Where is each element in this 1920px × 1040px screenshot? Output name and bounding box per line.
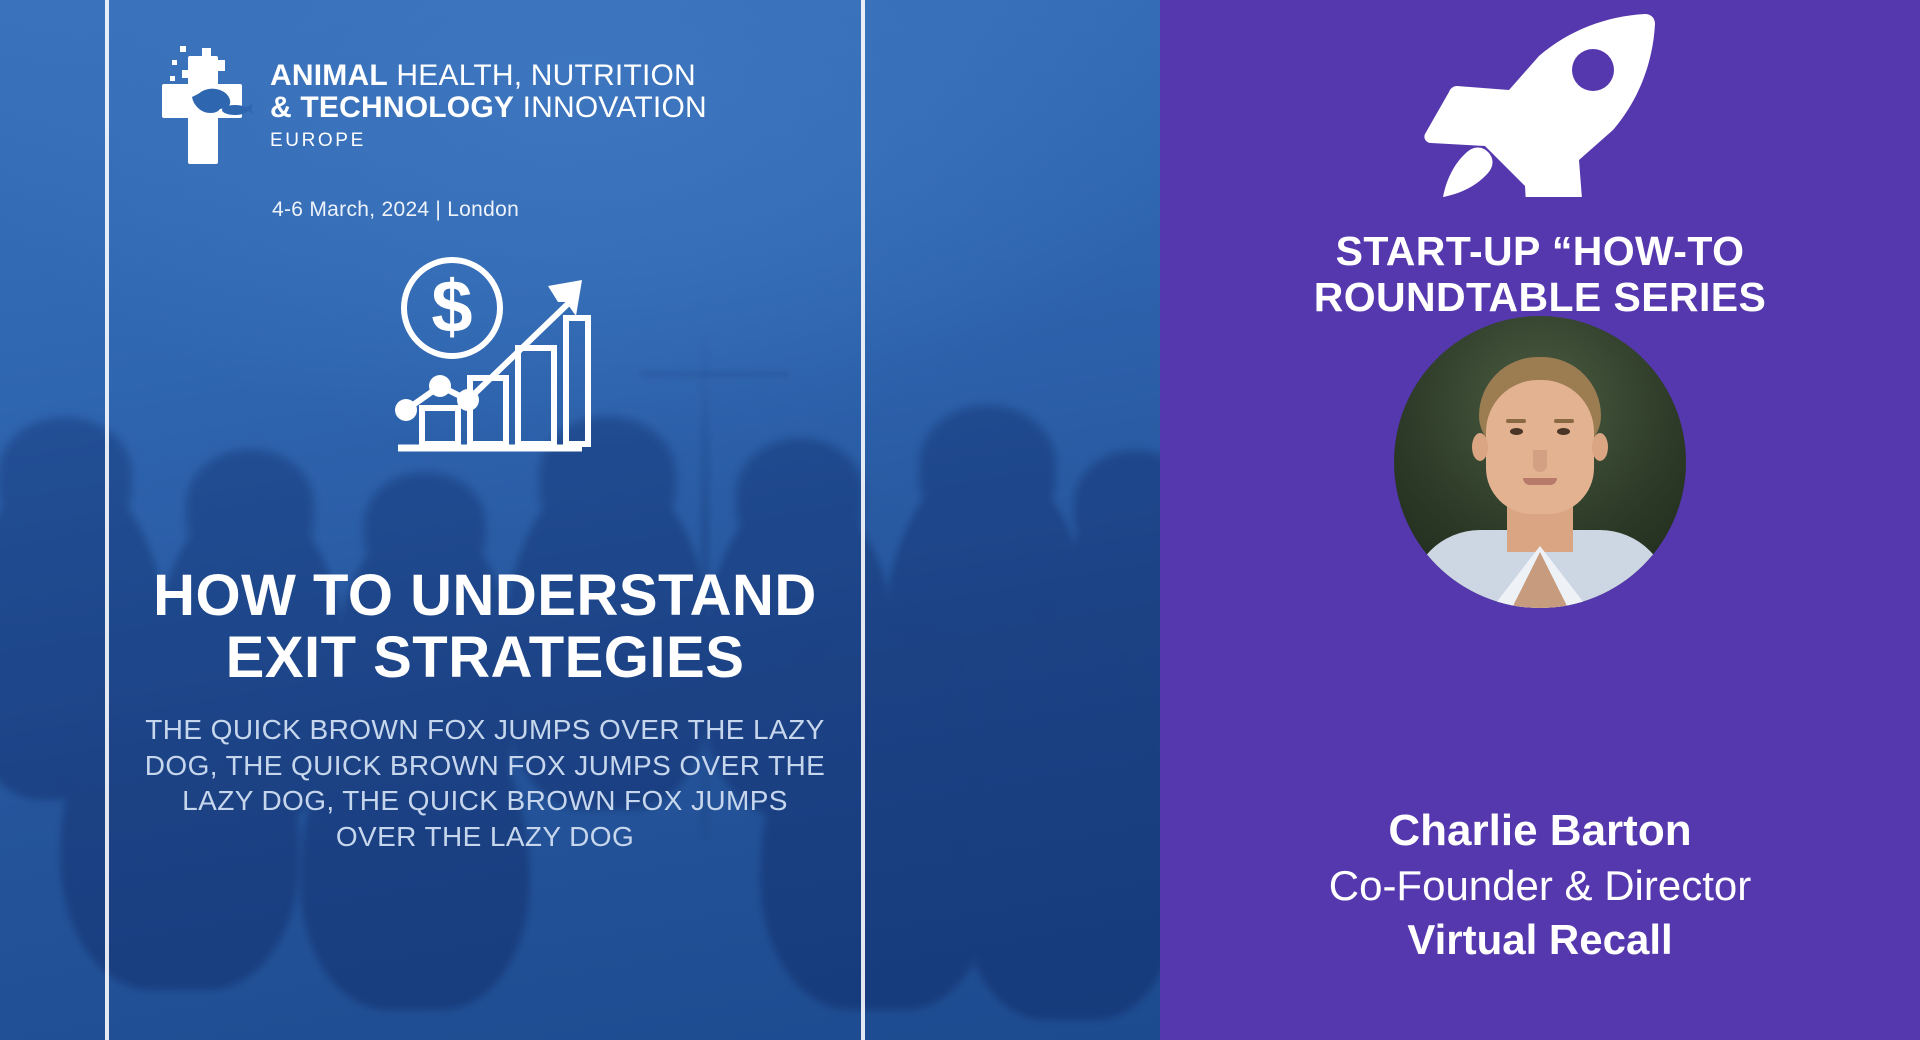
logo-line2-bold: & TECHNOLOGY <box>270 91 514 124</box>
animal-health-cross-logo-icon <box>150 38 254 166</box>
logo-line1-light: HEALTH, NUTRITION <box>396 59 696 92</box>
speaker-name: Charlie Barton <box>1180 805 1900 857</box>
speaker-headshot <box>1105 316 1920 608</box>
svg-text:$: $ <box>431 265 472 348</box>
left-panel: ANIMAL HEALTH, NUTRITION & TECHNOLOGY IN… <box>0 0 1160 1040</box>
speaker-role: Co-Founder & Director <box>1180 861 1900 911</box>
event-dates: 4-6 March, 2024 <box>272 198 429 221</box>
event-date-location: 4-6 March, 2024|London <box>272 198 519 222</box>
event-location: London <box>447 198 519 221</box>
series-heading: START-UP “HOW-TO ROUNDTABLE SERIES <box>1180 228 1900 321</box>
session-subtitle: THE QUICK BROWN FOX JUMPS OVER THE LAZY … <box>140 712 830 854</box>
event-date-separator: | <box>435 198 441 221</box>
logo-line2-light: INNOVATION <box>523 91 707 124</box>
speaker-organisation: Virtual Recall <box>1180 915 1900 965</box>
rocket-icon <box>1405 12 1660 197</box>
series-heading-line2: ROUNDTABLE SERIES <box>1180 274 1900 320</box>
session-title-line1: HOW TO UNDERSTAND <box>125 565 845 627</box>
logo-region: EUROPE <box>270 130 707 152</box>
speaker-portrait-image <box>1394 316 1686 608</box>
conference-session-slide: ANIMAL HEALTH, NUTRITION & TECHNOLOGY IN… <box>0 0 1920 1040</box>
event-logo-wordmark: ANIMAL HEALTH, NUTRITION & TECHNOLOGY IN… <box>270 38 707 152</box>
series-heading-line1: START-UP “HOW-TO <box>1180 228 1900 274</box>
session-title: HOW TO UNDERSTAND EXIT STRATEGIES <box>125 565 845 689</box>
session-title-line2: EXIT STRATEGIES <box>125 627 845 689</box>
speaker-details: Charlie Barton Co-Founder & Director Vir… <box>1180 805 1900 966</box>
growth-chart-dollar-icon: $ <box>380 250 600 465</box>
logo-line1-bold: ANIMAL <box>270 59 388 92</box>
event-logo: ANIMAL HEALTH, NUTRITION & TECHNOLOGY IN… <box>150 38 707 166</box>
